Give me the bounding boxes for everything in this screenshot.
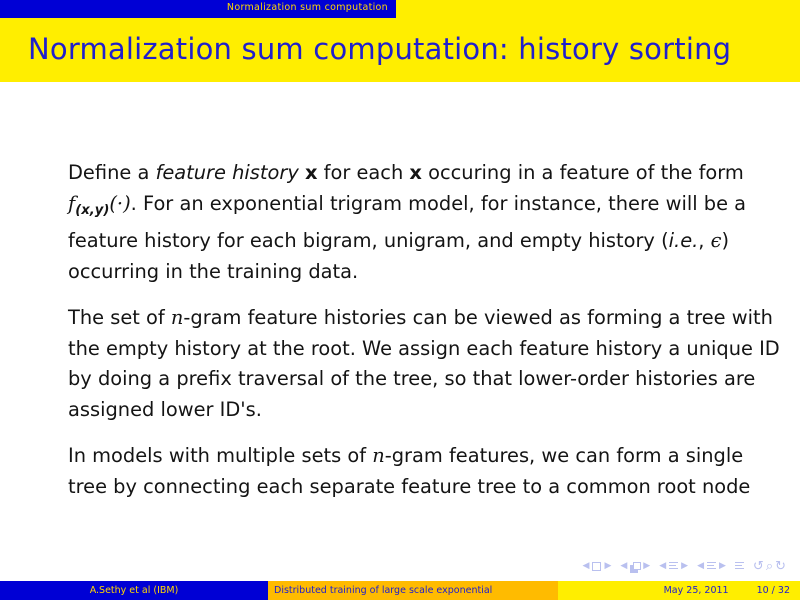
para1-math-epsilon: ϵ [711,229,722,252]
para1-emph-feature-history: feature history [156,161,299,184]
back-icon[interactable]: ↺ [753,560,764,573]
slide-square-icon[interactable] [592,562,601,571]
para2-math-n: n [171,306,184,329]
footer-right-section: May 25, 2011 10 / 32 [558,581,800,600]
navigation-bar-filler [396,0,800,18]
document-lines-icon[interactable] [735,562,744,571]
para3-math-n: n [372,444,385,467]
section-navigation-bar[interactable]: Normalization sum computation [0,0,396,18]
section-navigation-group[interactable]: ◀ ▶ [697,562,726,571]
footer-page-number: 10 / 32 [757,581,790,600]
para2-seg-a: The set of [68,306,171,329]
frame-title: Normalization sum computation: history s… [28,32,731,66]
next-section-icon[interactable]: ▶ [719,562,726,571]
footer-author: A.Sethy et al (IBM) [0,581,268,600]
document-navigation-group[interactable] [735,562,744,571]
previous-frame-icon[interactable]: ◀ [620,562,627,571]
paragraph-3: In models with multiple sets of n-gram f… [68,441,780,502]
next-frame-icon[interactable]: ▶ [643,562,650,571]
previous-section-icon[interactable]: ◀ [697,562,704,571]
para1-seg-e: for each [318,161,410,184]
slide-body: Define a feature history x for each x oc… [68,158,780,502]
frame-navigation-group[interactable]: ◀ ▶ [620,562,650,571]
next-subsection-icon[interactable]: ▶ [681,562,688,571]
para3-seg-a: In models with multiple sets of [68,444,372,467]
navbar-section-label[interactable]: Normalization sum computation [227,2,388,13]
previous-slide-icon[interactable]: ◀ [583,562,590,571]
subsection-lines-icon[interactable] [669,562,678,571]
previous-subsection-icon[interactable]: ◀ [659,562,666,571]
beamer-navigation-symbols[interactable]: ◀ ▶ ◀ ▶ ◀ ▶ ◀ ▶ ↺ ⌕ ↻ [583,558,786,574]
next-slide-icon[interactable]: ▶ [604,562,611,571]
para1-emph-ie: i.e. [669,229,699,252]
section-lines-icon[interactable] [707,562,716,571]
frame-title-bar: Normalization sum computation: history s… [0,18,800,82]
para1-math-subscript-xy: (x,y) [75,203,109,218]
subsection-navigation-group[interactable]: ◀ ▶ [659,562,688,571]
back-forward-group[interactable]: ↺ ⌕ ↻ [753,560,786,573]
para1-math-dot-arg: (·) [109,192,130,215]
para1-seg-a: Define a [68,161,156,184]
para1-seg-g: occuring in a feature of the form [422,161,744,184]
search-icon[interactable]: ⌕ [766,560,773,573]
slide-canvas: Normalization sum computation Normalizat… [0,0,800,600]
slide-footer: A.Sethy et al (IBM) Distributed training… [0,581,800,600]
footer-short-title: Distributed training of large scale expo… [268,581,558,600]
para1-seg-k: . For an exponential trigram model, for … [68,192,746,253]
frame-stack-icon[interactable] [630,562,640,571]
slide-navigation-group[interactable]: ◀ ▶ [583,562,612,571]
forward-icon[interactable]: ↻ [775,560,786,573]
footer-date: May 25, 2011 [664,581,729,600]
paragraph-2: The set of n-gram feature histories can … [68,303,780,425]
para1-seg-m: , [698,229,710,252]
para1-var-x1: x [305,161,318,184]
para1-var-x2: x [409,161,422,184]
paragraph-1: Define a feature history x for each x oc… [68,158,780,287]
